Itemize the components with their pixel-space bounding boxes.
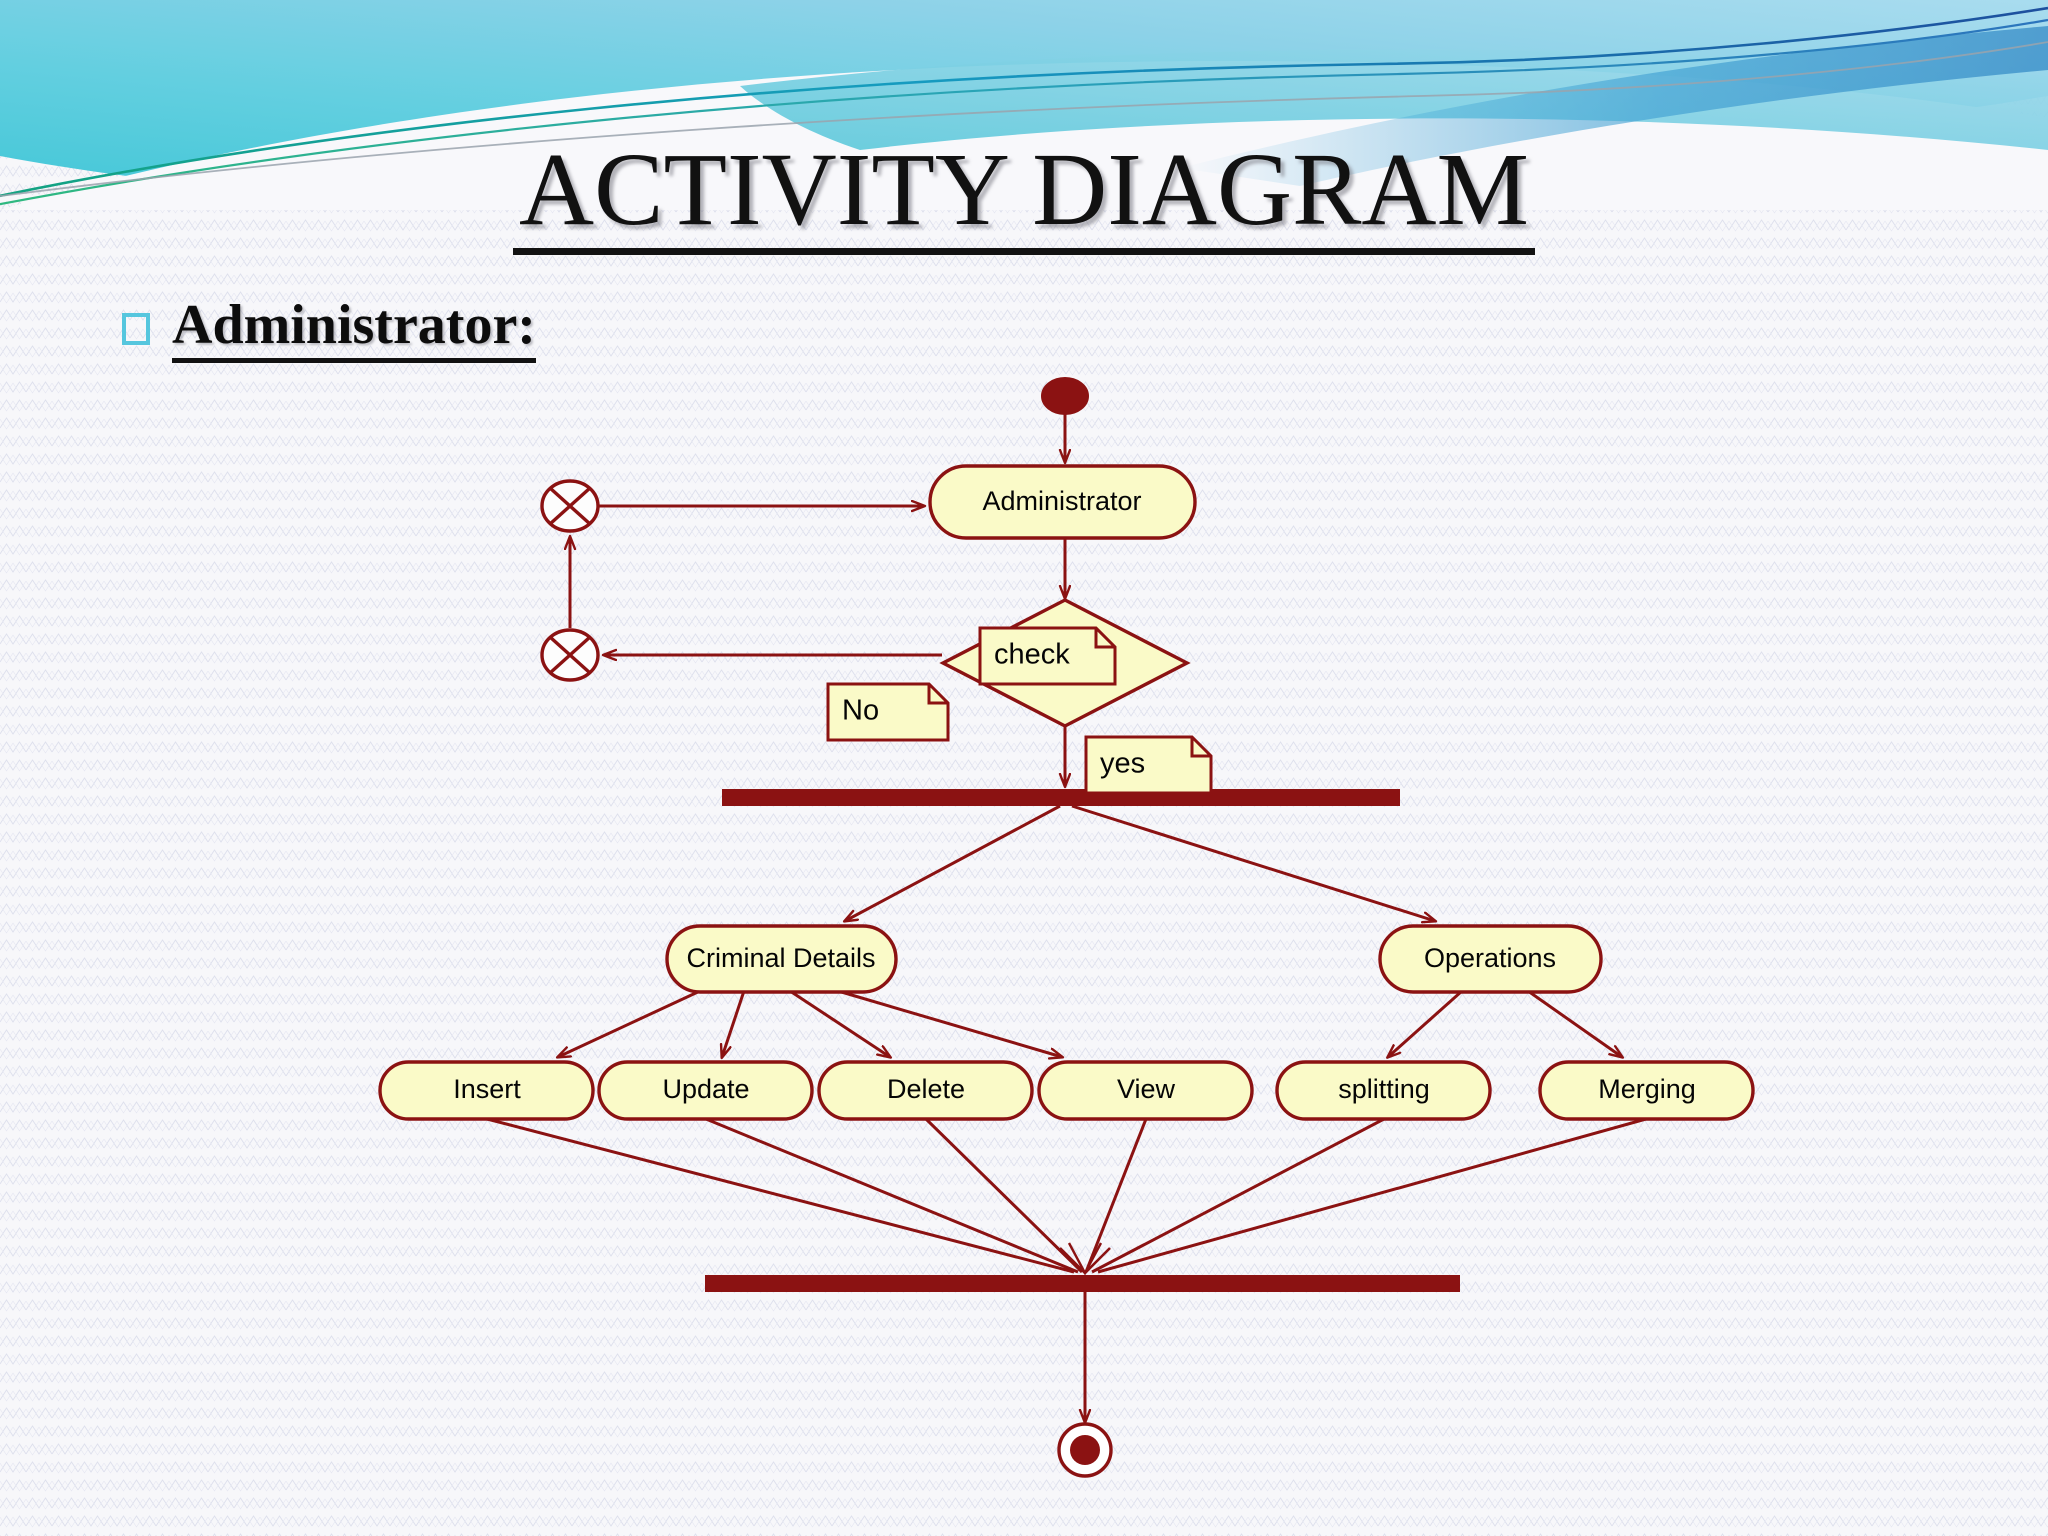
- action-label-insert: Insert: [453, 1074, 521, 1104]
- edge-delete-join: [926, 1119, 1082, 1272]
- flow-final-node-1[interactable]: [542, 481, 598, 531]
- action-label-update: Update: [662, 1074, 749, 1104]
- action-node-view[interactable]: View: [1039, 1062, 1252, 1119]
- action-label-merging: Merging: [1598, 1074, 1696, 1104]
- action-node-splitting[interactable]: splitting: [1277, 1062, 1490, 1119]
- edge-operations-splitting: [1388, 991, 1462, 1057]
- edge-fork-criminal: [845, 806, 1060, 921]
- edge-fork-operations: [1072, 806, 1435, 921]
- action-label-administrator: Administrator: [982, 486, 1141, 516]
- note-yes[interactable]: yes: [1086, 737, 1211, 793]
- action-node-administrator[interactable]: Administrator: [930, 466, 1195, 538]
- action-node-criminal-details[interactable]: Criminal Details: [667, 926, 896, 992]
- action-node-operations[interactable]: Operations: [1380, 926, 1601, 992]
- edge-insert-join: [487, 1119, 1074, 1272]
- flow-final-node-2[interactable]: [542, 630, 598, 680]
- activity-diagram: Administrator Criminal Details Operation…: [0, 0, 2048, 1536]
- edge-criminal-view: [838, 991, 1062, 1057]
- action-label-view: View: [1117, 1074, 1176, 1104]
- action-label-splitting: splitting: [1338, 1074, 1430, 1104]
- action-node-merging[interactable]: Merging: [1540, 1062, 1753, 1119]
- action-label-operations: Operations: [1424, 943, 1556, 973]
- edge-update-join: [706, 1119, 1078, 1272]
- final-node[interactable]: [1059, 1424, 1111, 1476]
- action-label-delete: Delete: [887, 1074, 965, 1104]
- action-node-insert[interactable]: Insert: [380, 1062, 593, 1119]
- action-node-delete[interactable]: Delete: [819, 1062, 1032, 1119]
- edge-criminal-insert: [558, 991, 700, 1057]
- presentation-slide: ACTIVITY DIAGRAM Administrator:: [0, 0, 2048, 1536]
- join-bar[interactable]: [705, 1275, 1460, 1292]
- note-label-no: No: [842, 695, 879, 727]
- edges-layer: [487, 414, 1646, 1422]
- note-check[interactable]: check: [980, 628, 1115, 684]
- edge-criminal-update: [722, 991, 744, 1057]
- note-no[interactable]: No: [828, 684, 948, 740]
- action-node-update[interactable]: Update: [599, 1062, 812, 1119]
- action-label-criminal-details: Criminal Details: [686, 943, 875, 973]
- initial-node[interactable]: [1042, 378, 1088, 414]
- note-label-yes: yes: [1100, 748, 1145, 780]
- edge-operations-merging: [1528, 991, 1622, 1057]
- edge-merging-join: [1098, 1119, 1646, 1272]
- fork-bar[interactable]: [722, 789, 1400, 806]
- note-label-check: check: [994, 639, 1070, 671]
